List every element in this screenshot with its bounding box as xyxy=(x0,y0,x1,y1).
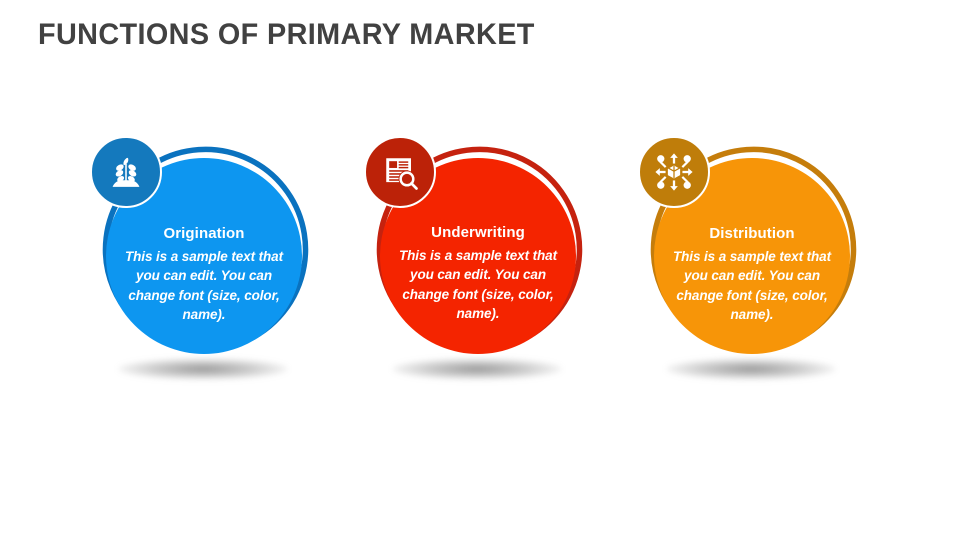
page-title: FUNCTIONS OF PRIMARY MARKET xyxy=(38,18,535,52)
card-underwriting[interactable]: Underwriting This is a sample text that … xyxy=(362,140,592,390)
card-origination[interactable]: Origination This is a sample text that y… xyxy=(88,140,318,390)
slide-canvas: FUNCTIONS OF PRIMARY MARKET Or xyxy=(0,0,960,540)
plant-sprout-icon xyxy=(90,136,162,208)
distribution-network-icon xyxy=(638,136,710,208)
document-search-icon xyxy=(364,136,436,208)
card-distribution[interactable]: Distribution This is a sample text that … xyxy=(636,140,866,390)
